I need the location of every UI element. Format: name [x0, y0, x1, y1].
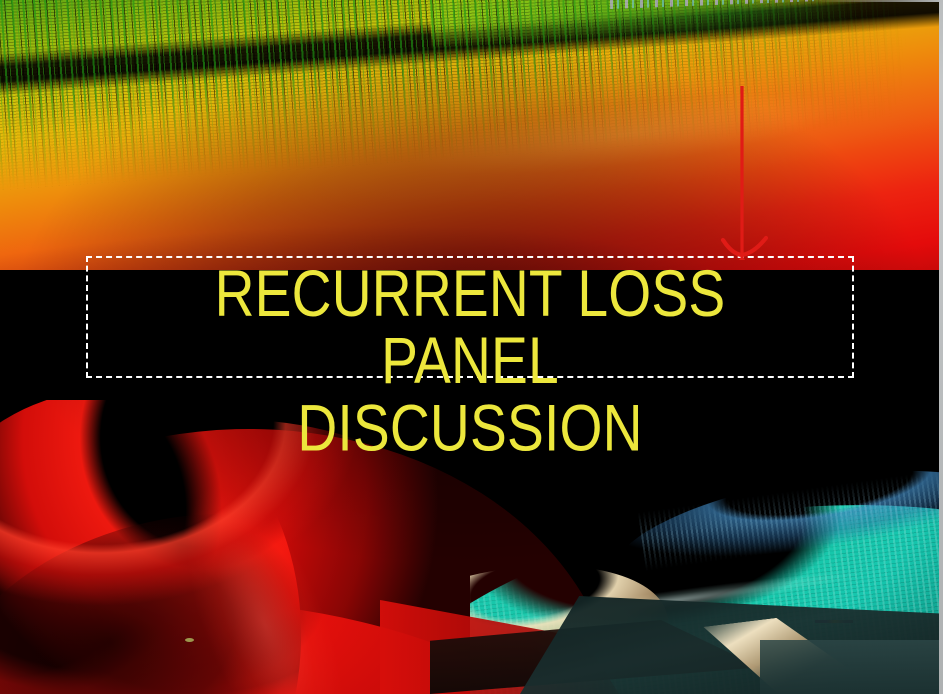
- page-title[interactable]: RECURRENT LOSS PANEL DISCUSSION: [119, 260, 822, 462]
- down-arrow-annotation: [706, 80, 786, 266]
- red-ribbon-highlight: [115, 436, 415, 694]
- red-ribbon-field: [0, 585, 627, 694]
- warm-gradient-split-line: [0, 0, 943, 172]
- red-ribbon-shadow: [0, 468, 439, 694]
- warm-gradient-sheen: [253, 26, 943, 275]
- red-ribbon-speck-artifact: [185, 638, 194, 642]
- teal-arc-ribbon: [470, 440, 943, 694]
- arrow-head-left-barb: [723, 240, 742, 255]
- warm-gradient-dither-texture: [0, 0, 943, 194]
- title-placeholder[interactable]: RECURRENT LOSS PANEL DISCUSSION: [86, 256, 854, 378]
- teal-arc-body: [470, 459, 943, 694]
- teal-arc-pixel-artifact: [815, 620, 853, 623]
- bottom-dark-wedge: [430, 620, 760, 694]
- warm-gradient-swoosh: [0, 0, 943, 270]
- bottom-cream-streak: [686, 608, 869, 694]
- slide-edge-top: [813, 0, 943, 2]
- teal-arc-blue-stripes: [638, 456, 943, 571]
- teal-arc-blue-edge: [602, 446, 943, 640]
- teal-arc-cream-fade: [470, 542, 681, 694]
- bottom-teal-floor: [760, 640, 943, 694]
- warm-gradient-body: [0, 0, 943, 270]
- slide-edge-right: [939, 0, 943, 694]
- presentation-slide: RECURRENT LOSS PANEL DISCUSSION: [0, 0, 943, 694]
- teal-arc-stripe-texture: [470, 459, 943, 694]
- green-tail-streak: [428, 0, 861, 50]
- bottom-dark-floor: [520, 596, 943, 694]
- teal-arc-sheen: [470, 553, 919, 648]
- arrow-head-right-barb: [742, 238, 766, 255]
- green-tail-sparkle-artifact: [610, 0, 820, 9]
- bottom-red-wedge: [380, 600, 640, 694]
